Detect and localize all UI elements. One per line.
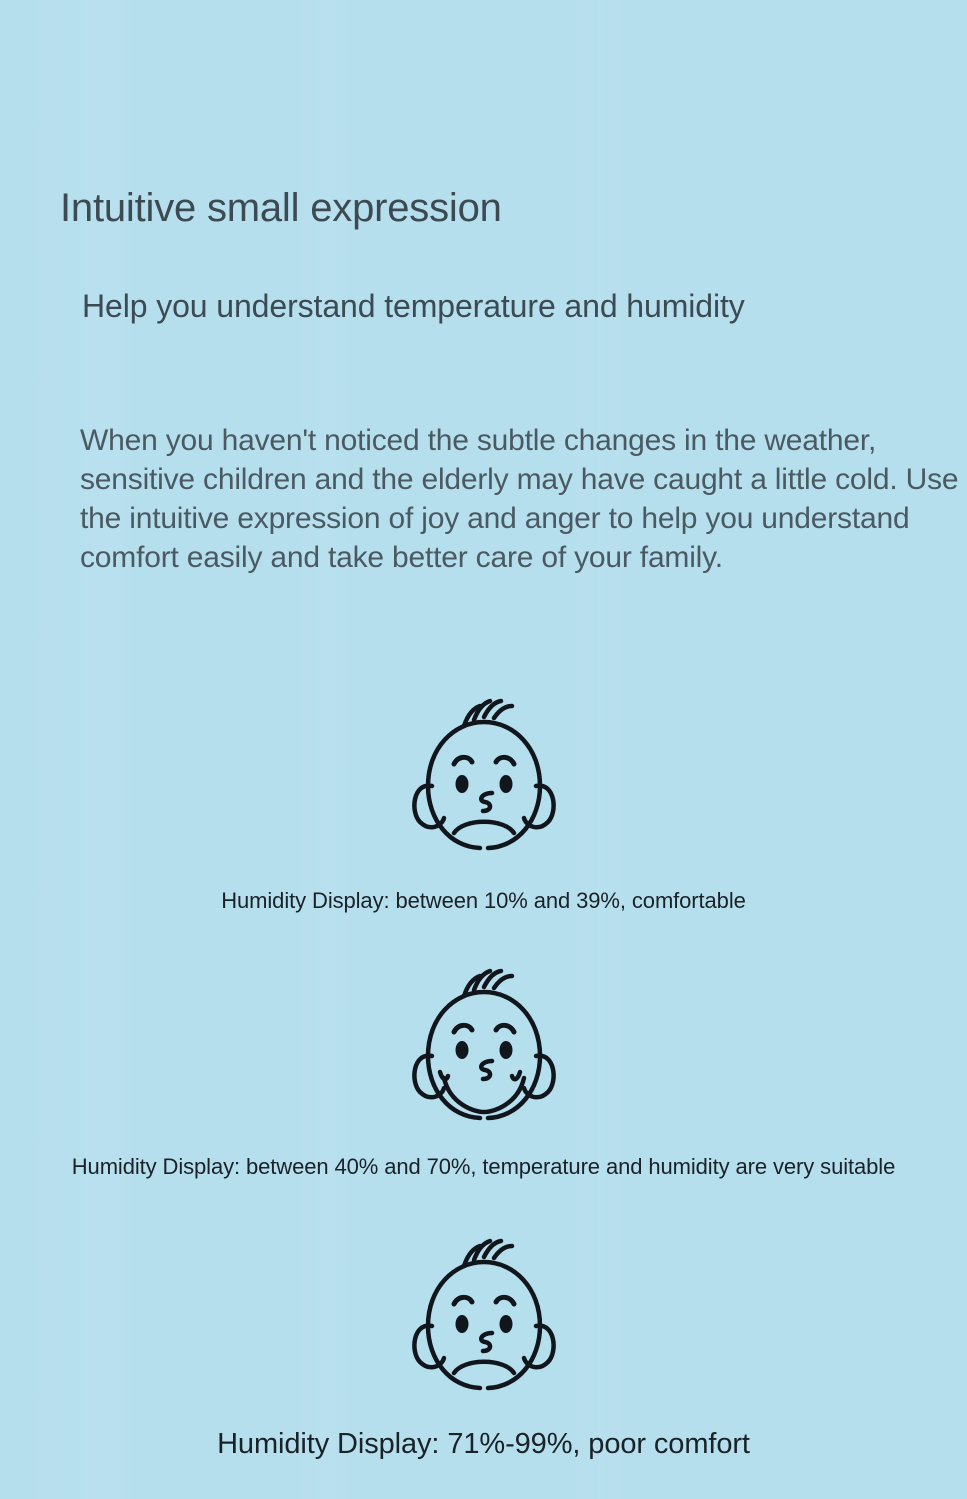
humidity-item-3: Humidity Display: 71%-99%, poor comfort bbox=[0, 1232, 967, 1461]
sad-baby-face-icon bbox=[0, 1232, 967, 1412]
humidity-caption-2: Humidity Display: between 40% and 70%, t… bbox=[0, 1154, 967, 1180]
description-paragraph: When you haven't noticed the subtle chan… bbox=[80, 421, 967, 577]
humidity-caption-1: Humidity Display: between 10% and 39%, c… bbox=[0, 888, 967, 914]
sad-baby-face-icon bbox=[0, 692, 967, 872]
humidity-item-2: Humidity Display: between 40% and 70%, t… bbox=[0, 962, 967, 1180]
page-subtitle: Help you understand temperature and humi… bbox=[82, 286, 745, 326]
happy-baby-face-icon bbox=[0, 962, 967, 1142]
marketing-page: Intuitive small expression Help you unde… bbox=[0, 0, 967, 1499]
page-title: Intuitive small expression bbox=[60, 185, 502, 231]
humidity-caption-3: Humidity Display: 71%-99%, poor comfort bbox=[0, 1428, 967, 1461]
humidity-item-1: Humidity Display: between 10% and 39%, c… bbox=[0, 692, 967, 914]
